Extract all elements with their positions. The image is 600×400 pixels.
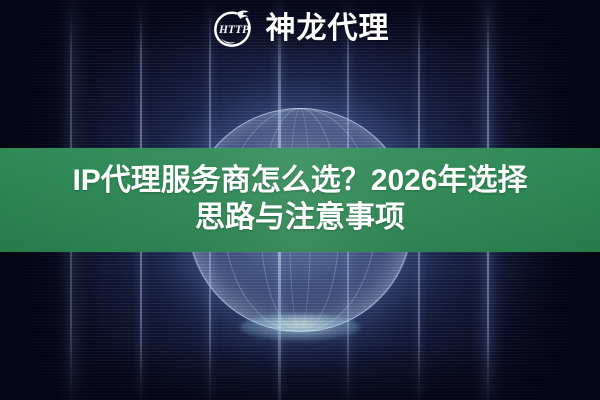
brand-name: 神龙代理 [266,14,390,44]
logo-inner-text: HTTP [217,24,249,36]
page-title-line-2: 思路与注意事项 [195,200,405,237]
brand-logo: HTTP 神龙代理 [0,6,600,52]
globe-bottom-glow [240,314,360,340]
title-band: IP代理服务商怎么选？2026年选择 思路与注意事项 [0,148,600,252]
page-title-line-1: IP代理服务商怎么选？2026年选择 [72,163,527,200]
promo-banner: HTTP 神龙代理 IP代理服务商怎么选？2026年选择 思路与注意事项 [0,0,600,400]
dragon-circle-http-logo: HTTP [211,6,257,52]
